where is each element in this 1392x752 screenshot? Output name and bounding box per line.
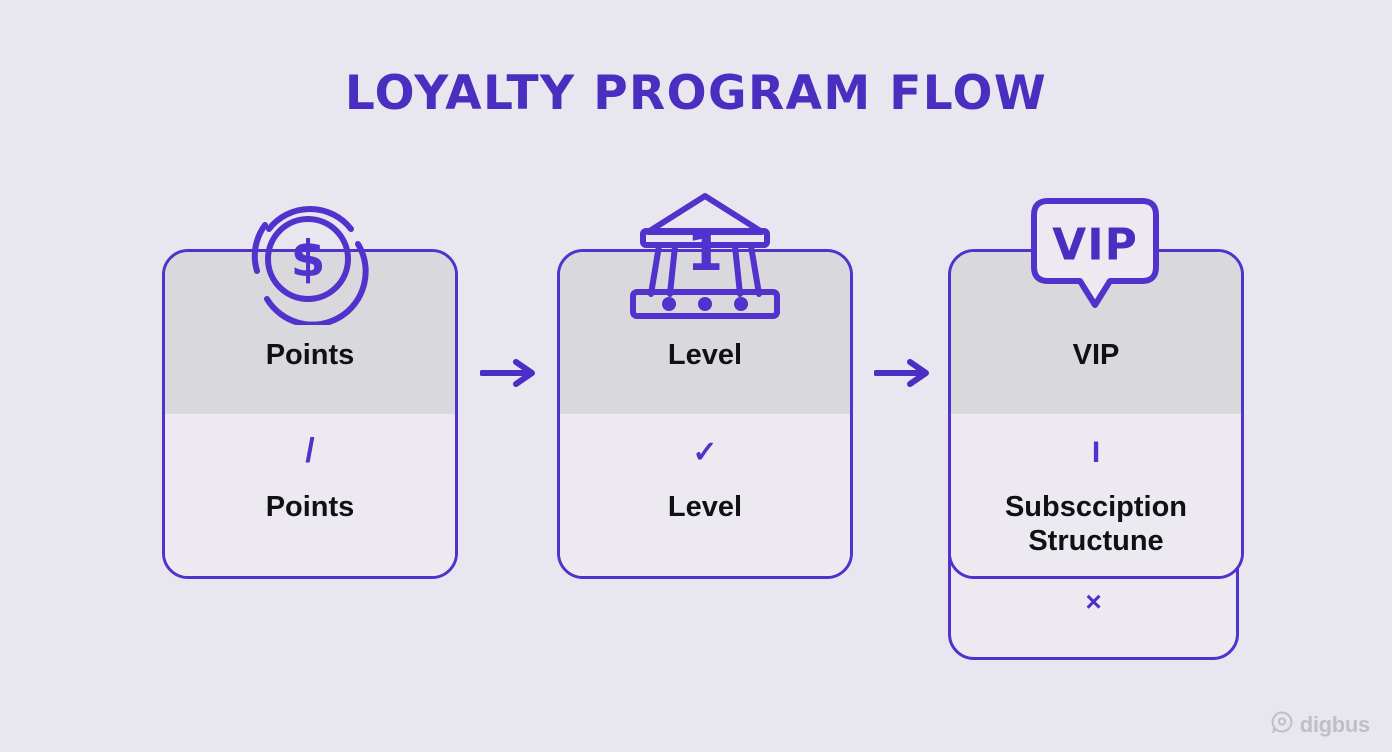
watermark: digbus	[1271, 711, 1370, 738]
card-body-label: Level	[560, 490, 850, 524]
flow-arrow-1	[480, 358, 540, 388]
cross-mark-icon: ×	[951, 586, 1236, 618]
card-body-label: Points	[165, 490, 455, 524]
card-body-label: Subscciption Structune	[951, 490, 1241, 558]
flow-diagram: × Points / Points Level ✓ Level VIP I Su…	[0, 240, 1392, 580]
card-header-label: Points	[165, 252, 455, 414]
flow-card-points[interactable]: Points / Points	[162, 249, 458, 579]
flow-arrow-2	[874, 358, 934, 388]
card-body: ✓ Level	[560, 414, 850, 576]
flow-card-level[interactable]: Level ✓ Level	[557, 249, 853, 579]
card-body: I Subscciption Structune	[951, 414, 1241, 576]
digbus-logo-icon	[1271, 711, 1293, 738]
card-body: / Points	[165, 414, 455, 576]
slash-mark-icon: /	[305, 434, 314, 468]
watermark-label: digbus	[1300, 712, 1370, 738]
card-header-label: Level	[560, 252, 850, 414]
check-mark-icon: ✓	[692, 436, 717, 470]
bar-mark-icon: I	[1092, 436, 1100, 470]
flow-card-vip[interactable]: VIP I Subscciption Structune	[948, 249, 1244, 579]
page-title: LOYALTY PROGRAM FLOW	[0, 66, 1392, 121]
card-header-label: VIP	[951, 252, 1241, 414]
